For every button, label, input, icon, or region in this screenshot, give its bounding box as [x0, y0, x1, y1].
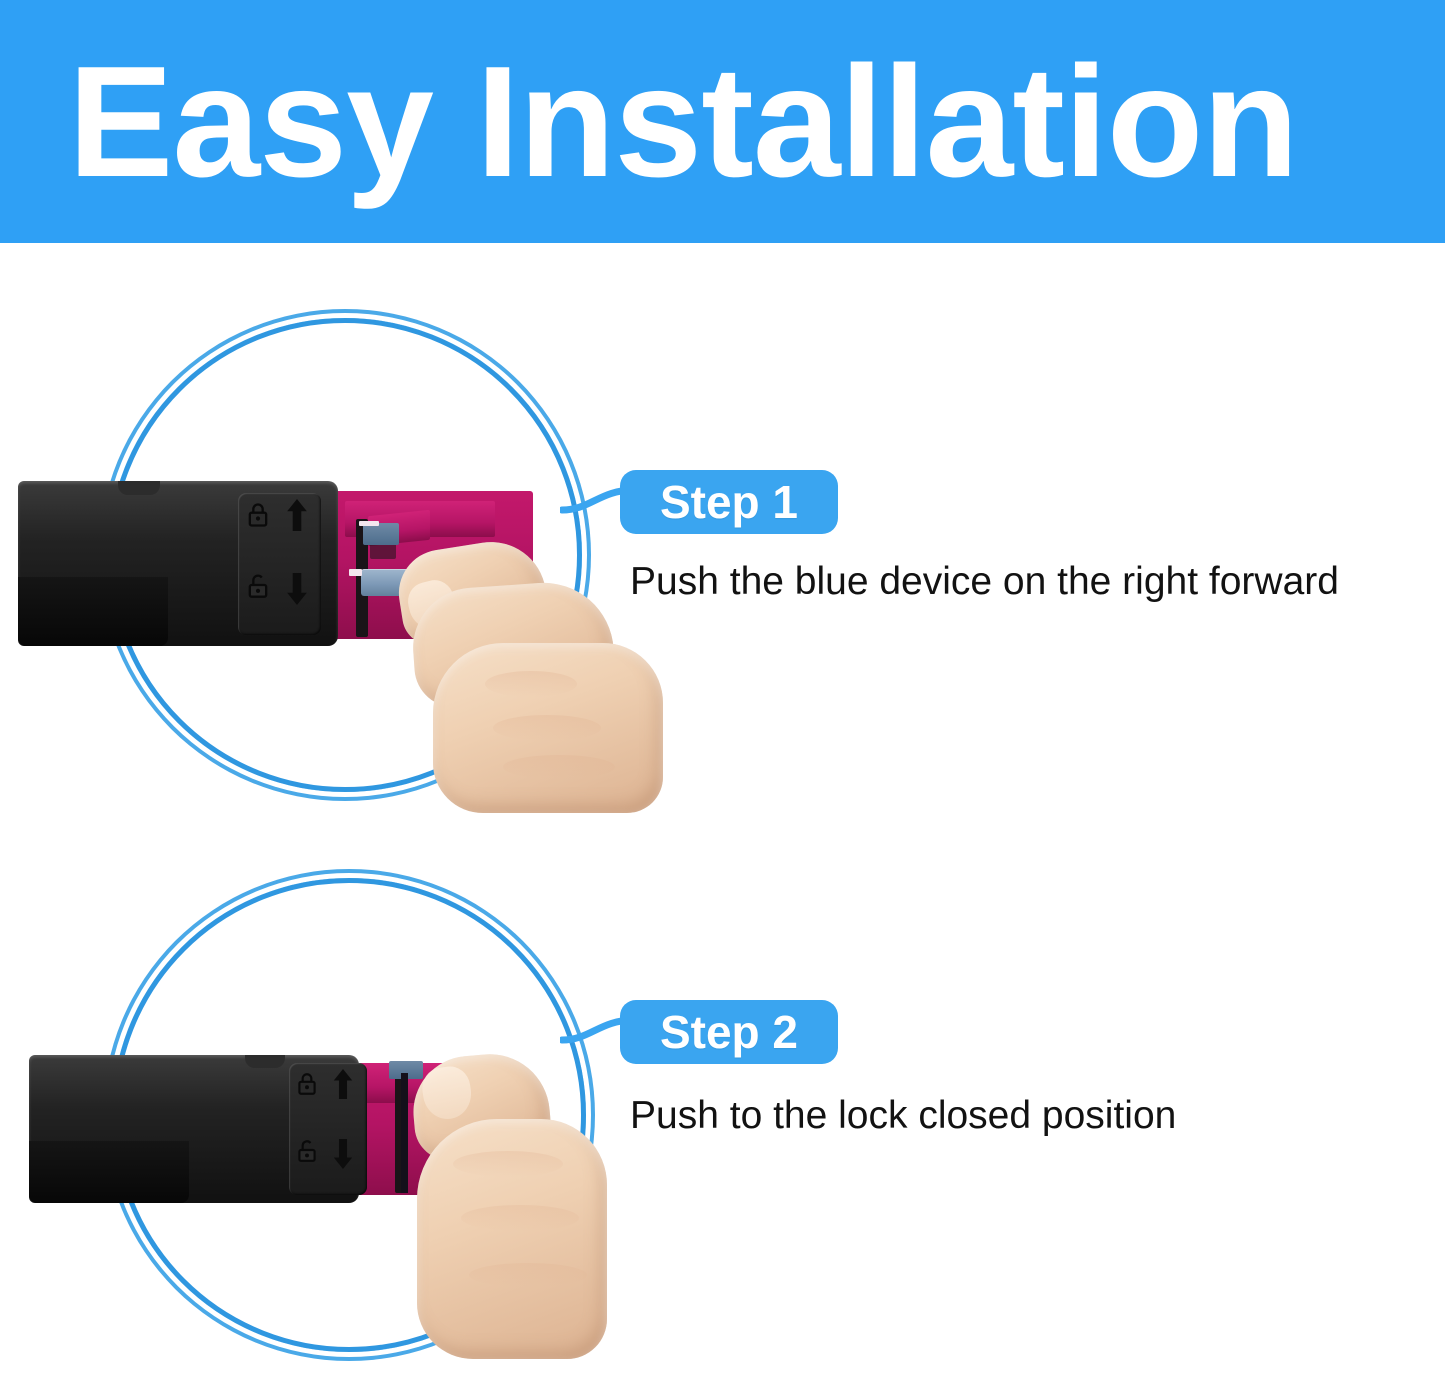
page-title: Easy Installation — [68, 43, 1298, 201]
lock-open-icon — [244, 571, 272, 599]
step-1-badge[interactable]: Step 1 — [620, 470, 838, 534]
slot-highlight — [349, 569, 362, 576]
step-2-badge-label: Step 2 — [660, 1009, 798, 1055]
knuckle-crease-3 — [503, 755, 615, 779]
arrow-down-icon — [331, 1139, 355, 1169]
knuckle-crease-3 — [469, 1263, 587, 1287]
step-1-description: Push the blue device on the right forwar… — [630, 556, 1350, 608]
lock-closed-icon — [294, 1071, 320, 1097]
header-banner: Easy Installation — [0, 0, 1445, 243]
knuckle-crease-2 — [493, 715, 601, 741]
step-2-photo-circle — [112, 878, 586, 1352]
knuckle-crease-2 — [461, 1205, 579, 1231]
step-2-photo — [117, 883, 581, 1347]
step-2-badge[interactable]: Step 2 — [620, 1000, 838, 1064]
slider-tab-upper — [363, 523, 399, 545]
lock-closed-icon — [244, 501, 272, 529]
arrow-up-icon — [284, 499, 310, 531]
arrow-down-icon — [284, 573, 310, 605]
step-1-photo-circle — [108, 318, 582, 792]
cartridge-black-lip — [29, 1141, 189, 1203]
slider-tab-stem — [401, 1073, 408, 1193]
step-section-1: Step 1 Push the blue device on the right… — [0, 318, 1445, 828]
arrow-up-icon — [331, 1069, 355, 1099]
step-section-2: Step 2 Push to the lock closed position — [0, 868, 1445, 1368]
cartridge-black-lip — [18, 577, 168, 646]
cartridge-icon-plate — [238, 493, 321, 635]
cartridge-notch — [245, 1055, 285, 1068]
cartridge-icon-plate — [289, 1063, 367, 1195]
cartridge-notch — [118, 481, 160, 495]
knuckle-crease-1 — [453, 1151, 563, 1177]
step-1-badge-label: Step 1 — [660, 479, 798, 525]
step-2-description: Push to the lock closed position — [630, 1090, 1350, 1142]
step-1-photo — [113, 323, 577, 787]
lock-open-icon — [294, 1137, 320, 1163]
knuckle-crease-1 — [485, 671, 577, 697]
slot-highlight-2 — [359, 521, 379, 526]
